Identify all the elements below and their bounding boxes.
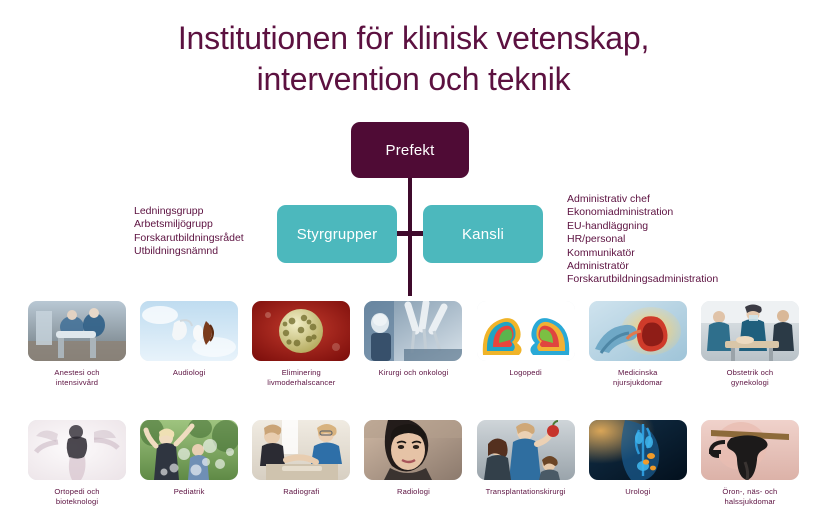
division-card-label: Pediatrik xyxy=(174,487,205,497)
division-card-label: Urologi xyxy=(625,487,650,497)
family-apple-photo xyxy=(477,420,575,480)
division-card[interactable]: Eliminering livmoderhalscancer xyxy=(252,301,350,387)
org-box-kansli-label: Kansli xyxy=(462,226,504,243)
styrgrupper-list-item: Forskarutbildningsrådet xyxy=(134,232,244,245)
styrgrupper-list-item: Arbetsmiljögrupp xyxy=(134,218,244,231)
division-card-label: Logopedi xyxy=(509,368,541,378)
division-card[interactable]: Audiologi xyxy=(140,301,238,387)
division-card-label: Radiografi xyxy=(283,487,319,497)
radiography-exam-photo xyxy=(252,420,350,480)
division-card-label: Transplantationskirurgi xyxy=(486,487,566,497)
page-title: Institutionen för klinisk vetenskap, int… xyxy=(0,18,827,100)
kansli-list-item: Administrativ chef xyxy=(567,193,718,206)
division-card[interactable]: Obstetrik och gynekologi xyxy=(701,301,799,387)
colorful-heads-photo xyxy=(477,301,575,361)
division-card-row-1: Anestesi och intensivvård Audiologi Elim… xyxy=(28,301,799,387)
kansli-list-item: Kommunikatör xyxy=(567,247,718,260)
division-card-label: Radiologi xyxy=(397,487,430,497)
division-card[interactable]: Anestesi och intensivvård xyxy=(28,301,126,387)
division-card[interactable]: Urologi xyxy=(589,420,687,506)
children-bubbles-photo xyxy=(140,420,238,480)
org-box-styrgrupper-label: Styrgrupper xyxy=(297,226,378,243)
division-card[interactable]: Pediatrik xyxy=(140,420,238,506)
org-box-prefekt[interactable]: Prefekt xyxy=(351,122,469,178)
division-card-label: Audiologi xyxy=(173,368,206,378)
kansli-list-item: Administratör xyxy=(567,260,718,273)
styrgrupper-list: Ledningsgrupp Arbetsmiljögrupp Forskarut… xyxy=(134,205,244,259)
hpv-virus-photo xyxy=(252,301,350,361)
division-card-label: Kirurgi och onkologi xyxy=(379,368,449,378)
kansli-list-item: HR/personal xyxy=(567,233,718,246)
org-box-kansli[interactable]: Kansli xyxy=(423,205,543,263)
division-card[interactable]: Medicinska njursjukdomar xyxy=(589,301,687,387)
kansli-list-item: Ekonomiadministration xyxy=(567,206,718,219)
org-box-styrgrupper[interactable]: Styrgrupper xyxy=(277,205,397,263)
division-card-label: Obstetrik och gynekologi xyxy=(727,368,774,387)
radiology-portrait-photo xyxy=(364,420,462,480)
kansli-list-item: EU-handläggning xyxy=(567,220,718,233)
dancer-photo xyxy=(28,420,126,480)
division-card[interactable]: Kirurgi och onkologi xyxy=(364,301,462,387)
kidney-photo xyxy=(589,301,687,361)
kansli-list: Administrativ chef Ekonomiadministration… xyxy=(567,193,718,287)
styrgrupper-list-item: Utbildningsnämnd xyxy=(134,245,244,258)
hearing-aid-photo xyxy=(140,301,238,361)
obstetrics-training-photo xyxy=(701,301,799,361)
division-card-label: Öron-, näs- och halssjukdomar xyxy=(722,487,777,506)
division-card-label: Anestesi och intensivvård xyxy=(54,368,99,387)
surgery-robot-photo xyxy=(364,301,462,361)
division-card[interactable]: Transplantationskirurgi xyxy=(477,420,575,506)
anesthesia-photo xyxy=(28,301,126,361)
division-card[interactable]: Radiologi xyxy=(364,420,462,506)
division-card-label: Medicinska njursjukdomar xyxy=(613,368,663,387)
ear-anvil-photo xyxy=(701,420,799,480)
division-card-row-2: Ortopedi och bioteknologi Pediatrik xyxy=(28,420,799,506)
division-card-label: Eliminering livmoderhalscancer xyxy=(267,368,335,387)
division-card[interactable]: Logopedi xyxy=(477,301,575,387)
styrgrupper-list-item: Ledningsgrupp xyxy=(134,205,244,218)
kansli-list-item: Forskarutbildningsadministration xyxy=(567,273,718,286)
urology-anatomy-photo xyxy=(589,420,687,480)
division-card[interactable]: Ortopedi och bioteknologi xyxy=(28,420,126,506)
division-card[interactable]: Öron-, näs- och halssjukdomar xyxy=(701,420,799,506)
division-card[interactable]: Radiografi xyxy=(252,420,350,506)
org-box-prefekt-label: Prefekt xyxy=(386,142,435,159)
division-card-label: Ortopedi och bioteknologi xyxy=(54,487,99,506)
